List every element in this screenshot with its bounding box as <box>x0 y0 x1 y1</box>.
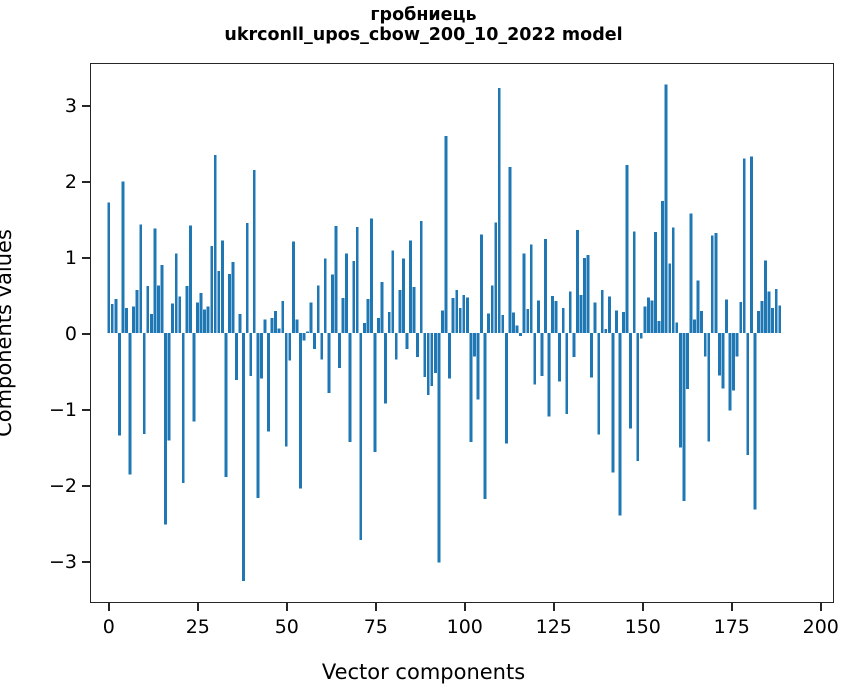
chart-title-main: гробниець <box>0 6 847 26</box>
y-axis-label: Components values <box>0 229 16 437</box>
x-tick-label: 125 <box>536 616 572 638</box>
y-tick-mark <box>82 333 91 335</box>
x-tick-mark <box>553 602 555 611</box>
x-tick-label: 0 <box>103 616 115 638</box>
y-tick-mark <box>82 409 91 411</box>
x-tick-mark <box>464 602 466 611</box>
x-tick-label: 25 <box>186 616 210 638</box>
x-tick-label: 100 <box>447 616 483 638</box>
x-tick-label: 150 <box>625 616 661 638</box>
y-tick-label: 1 <box>65 247 77 269</box>
figure-canvas: гробниець ukrconll_upos_cbow_200_10_2022… <box>0 0 847 696</box>
x-tick-mark <box>820 602 822 611</box>
plot-axes: 3210−1−2−30255075100125150175200 <box>90 63 834 603</box>
y-tick-label: −3 <box>49 551 77 573</box>
chart-title: гробниець ukrconll_upos_cbow_200_10_2022… <box>0 6 847 45</box>
plot-area <box>91 64 833 602</box>
y-tick-label: 3 <box>65 95 77 117</box>
x-tick-mark <box>642 602 644 611</box>
y-tick-label: 2 <box>65 171 77 193</box>
y-tick-mark <box>82 105 91 107</box>
y-tick-label: −1 <box>49 399 77 421</box>
chart-title-sub: ukrconll_upos_cbow_200_10_2022 model <box>0 26 847 46</box>
y-tick-mark <box>82 485 91 487</box>
x-axis-label: Vector components <box>0 660 847 684</box>
x-tick-label: 75 <box>364 616 388 638</box>
x-tick-label: 175 <box>714 616 750 638</box>
y-tick-mark <box>82 181 91 183</box>
bar-series <box>91 64 833 602</box>
x-tick-mark <box>286 602 288 611</box>
y-tick-label: −2 <box>49 475 77 497</box>
y-tick-mark <box>82 257 91 259</box>
y-tick-mark <box>82 561 91 563</box>
x-tick-label: 200 <box>803 616 839 638</box>
y-tick-label: 0 <box>65 323 77 345</box>
x-tick-label: 50 <box>275 616 299 638</box>
x-tick-mark <box>375 602 377 611</box>
x-tick-mark <box>731 602 733 611</box>
x-tick-mark <box>108 602 110 611</box>
x-tick-mark <box>197 602 199 611</box>
